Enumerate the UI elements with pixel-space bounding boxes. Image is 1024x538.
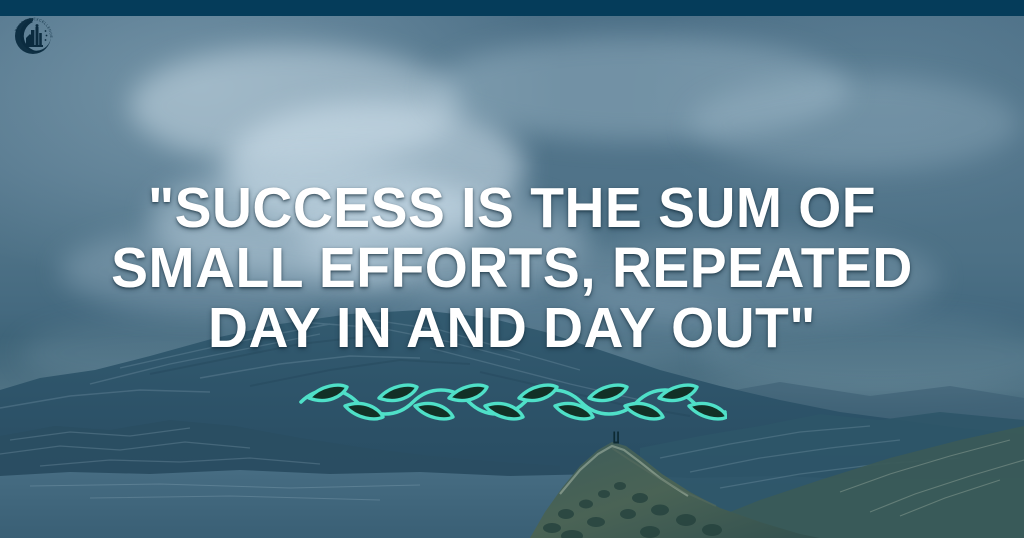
circular-emblem-logo[interactable]: BUILDING EXCELLENCE (9, 12, 57, 60)
mountain-landscape (0, 308, 1024, 538)
sky-glow-right (624, 16, 1024, 236)
cloud (130, 46, 460, 166)
background-photo (0, 16, 1024, 538)
top-navy-bar (0, 0, 1024, 16)
cloud (300, 191, 590, 296)
cloud (225, 101, 525, 236)
cloud (560, 231, 940, 326)
sky-glow (0, 16, 560, 286)
cloud (430, 36, 850, 141)
cloud (690, 76, 1020, 171)
cloud (20, 316, 350, 391)
hiker-silhouette (609, 431, 625, 453)
cloud (330, 286, 750, 371)
cloud (60, 226, 400, 316)
quote-banner: BUILDING EXCELLENCE "SUCCESS IS THE SUM … (0, 0, 1024, 538)
cloud (700, 316, 1024, 396)
atmospheric-haze (0, 336, 1024, 446)
cloud (150, 161, 480, 281)
distant-mountain-range (0, 338, 1024, 538)
